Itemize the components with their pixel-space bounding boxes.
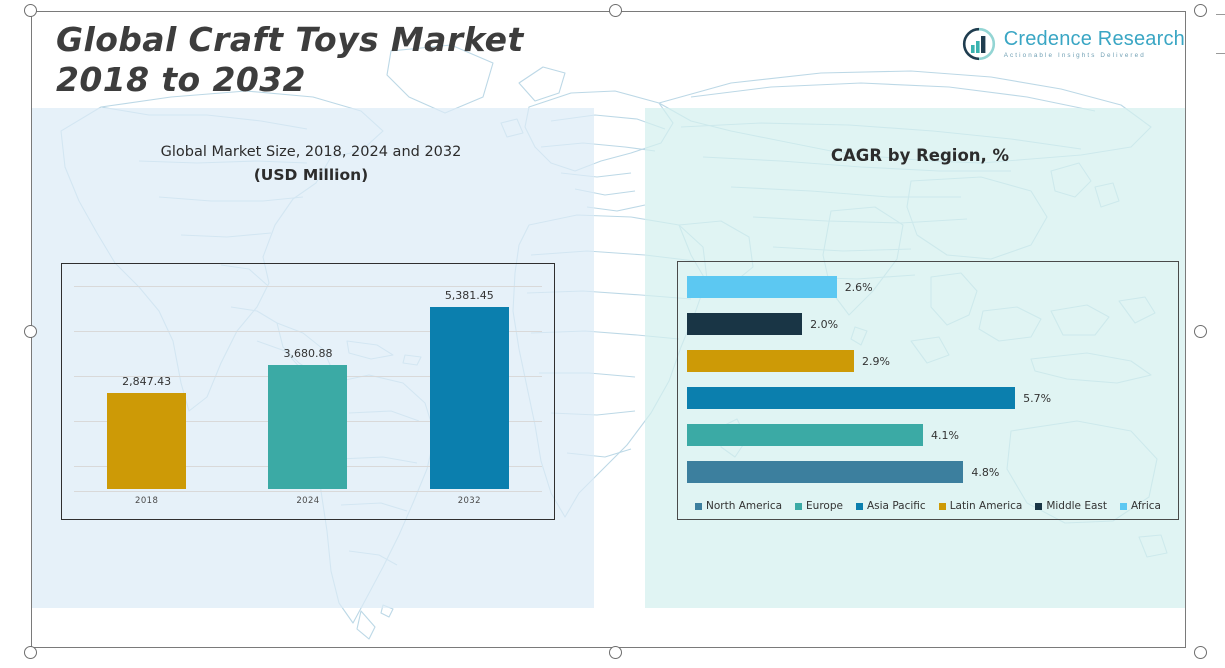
cagr-bars: 2.6%2.0%2.9%5.7%4.1%4.8% (687, 276, 1172, 483)
resize-handle-top-right[interactable] (1194, 4, 1207, 17)
legend-swatch (1035, 503, 1042, 510)
resize-handle-top-center[interactable] (609, 4, 622, 17)
cagr-bar-chart: 2.6%2.0%2.9%5.7%4.1%4.8% North AmericaEu… (677, 261, 1179, 520)
bar-value-label: 4.8% (971, 466, 999, 479)
resize-handle-top-left[interactable] (24, 4, 37, 17)
legend-item: Asia Pacific (856, 500, 926, 512)
page-title: Global Craft Toys Market 2018 to 2032 (56, 20, 616, 101)
side-panel-stub (1216, 14, 1225, 54)
bar-rect (687, 424, 923, 446)
bar-rect (687, 313, 802, 335)
page-title-line-2: 2018 to 2032 (56, 60, 616, 100)
cagr-bar-row: 4.1% (687, 424, 1172, 446)
market-size-bar-chart: 2,847.433,680.885,381.45 201820242032 (61, 263, 555, 520)
legend-label: Asia Pacific (867, 500, 926, 512)
x-axis-tick-label: 2024 (228, 496, 388, 506)
resize-handle-bottom-left[interactable] (24, 646, 37, 659)
bar-rect (687, 387, 1015, 409)
bar-value-label: 2,847.43 (122, 375, 171, 388)
cagr-bar-row: 2.6% (687, 276, 1172, 298)
left-chart-heading: Global Market Size, 2018, 2024 and 2032 … (66, 144, 556, 184)
market-size-axis-labels: 201820242032 (66, 491, 550, 511)
resize-handle-bottom-center[interactable] (609, 646, 622, 659)
market-size-bar-group: 3,680.88 (228, 278, 388, 489)
cagr-bar-row: 5.7% (687, 387, 1172, 409)
legend-swatch (939, 503, 946, 510)
bar-value-label: 5,381.45 (445, 289, 494, 302)
bar-value-label: 2.0% (810, 318, 838, 331)
logo-name: Credence Research (1004, 29, 1185, 49)
resize-handle-middle-left[interactable] (24, 325, 37, 338)
cagr-bar-row: 4.8% (687, 461, 1172, 483)
legend-swatch (795, 503, 802, 510)
left-chart-heading-line-2: (USD Million) (66, 166, 556, 184)
legend-swatch (1120, 503, 1127, 510)
bar-rect (107, 393, 186, 489)
legend-item: Middle East (1035, 500, 1107, 512)
legend-label: North America (706, 500, 782, 512)
legend-item: Latin America (939, 500, 1023, 512)
legend-item: Africa (1120, 500, 1161, 512)
market-size-plot-area: 2,847.433,680.885,381.45 201820242032 (66, 268, 550, 515)
market-size-bars: 2,847.433,680.885,381.45 (66, 278, 550, 489)
legend-label: Africa (1131, 500, 1161, 512)
legend-item: North America (695, 500, 782, 512)
x-axis-tick-label: 2018 (67, 496, 227, 506)
cagr-legend: North AmericaEuropeAsia PacificLatin Ame… (678, 500, 1178, 512)
cagr-bar-row: 2.9% (687, 350, 1172, 372)
bar-value-label: 2.6% (845, 281, 873, 294)
x-axis-tick-label: 2032 (389, 496, 549, 506)
bar-chart-circle-icon (962, 27, 996, 61)
legend-swatch (695, 503, 702, 510)
page-title-line-1: Global Craft Toys Market (56, 20, 616, 60)
legend-item: Europe (795, 500, 843, 512)
bar-rect (430, 307, 509, 489)
slide-canvas: Global Craft Toys Market 2018 to 2032 Cr… (0, 0, 1225, 668)
right-chart-heading: CAGR by Region, % (700, 146, 1140, 165)
legend-label: Latin America (950, 500, 1023, 512)
bar-rect (687, 350, 854, 372)
bar-value-label: 2.9% (862, 355, 890, 368)
bar-value-label: 3,680.88 (283, 347, 332, 360)
bar-rect (268, 365, 347, 489)
legend-label: Middle East (1046, 500, 1107, 512)
bar-value-label: 5.7% (1023, 392, 1051, 405)
brand-logo: Credence Research Actionable Insights De… (962, 27, 1185, 61)
market-size-bar-group: 2,847.43 (67, 278, 227, 489)
legend-swatch (856, 503, 863, 510)
bar-value-label: 4.1% (931, 429, 959, 442)
legend-label: Europe (806, 500, 843, 512)
left-chart-heading-line-1: Global Market Size, 2018, 2024 and 2032 (66, 144, 556, 160)
bar-rect (687, 461, 963, 483)
logo-tagline: Actionable Insights Delivered (1004, 53, 1185, 59)
resize-handle-middle-right[interactable] (1194, 325, 1207, 338)
bar-rect (687, 276, 837, 298)
cagr-bar-row: 2.0% (687, 313, 1172, 335)
market-size-bar-group: 5,381.45 (389, 278, 549, 489)
resize-handle-bottom-right[interactable] (1194, 646, 1207, 659)
